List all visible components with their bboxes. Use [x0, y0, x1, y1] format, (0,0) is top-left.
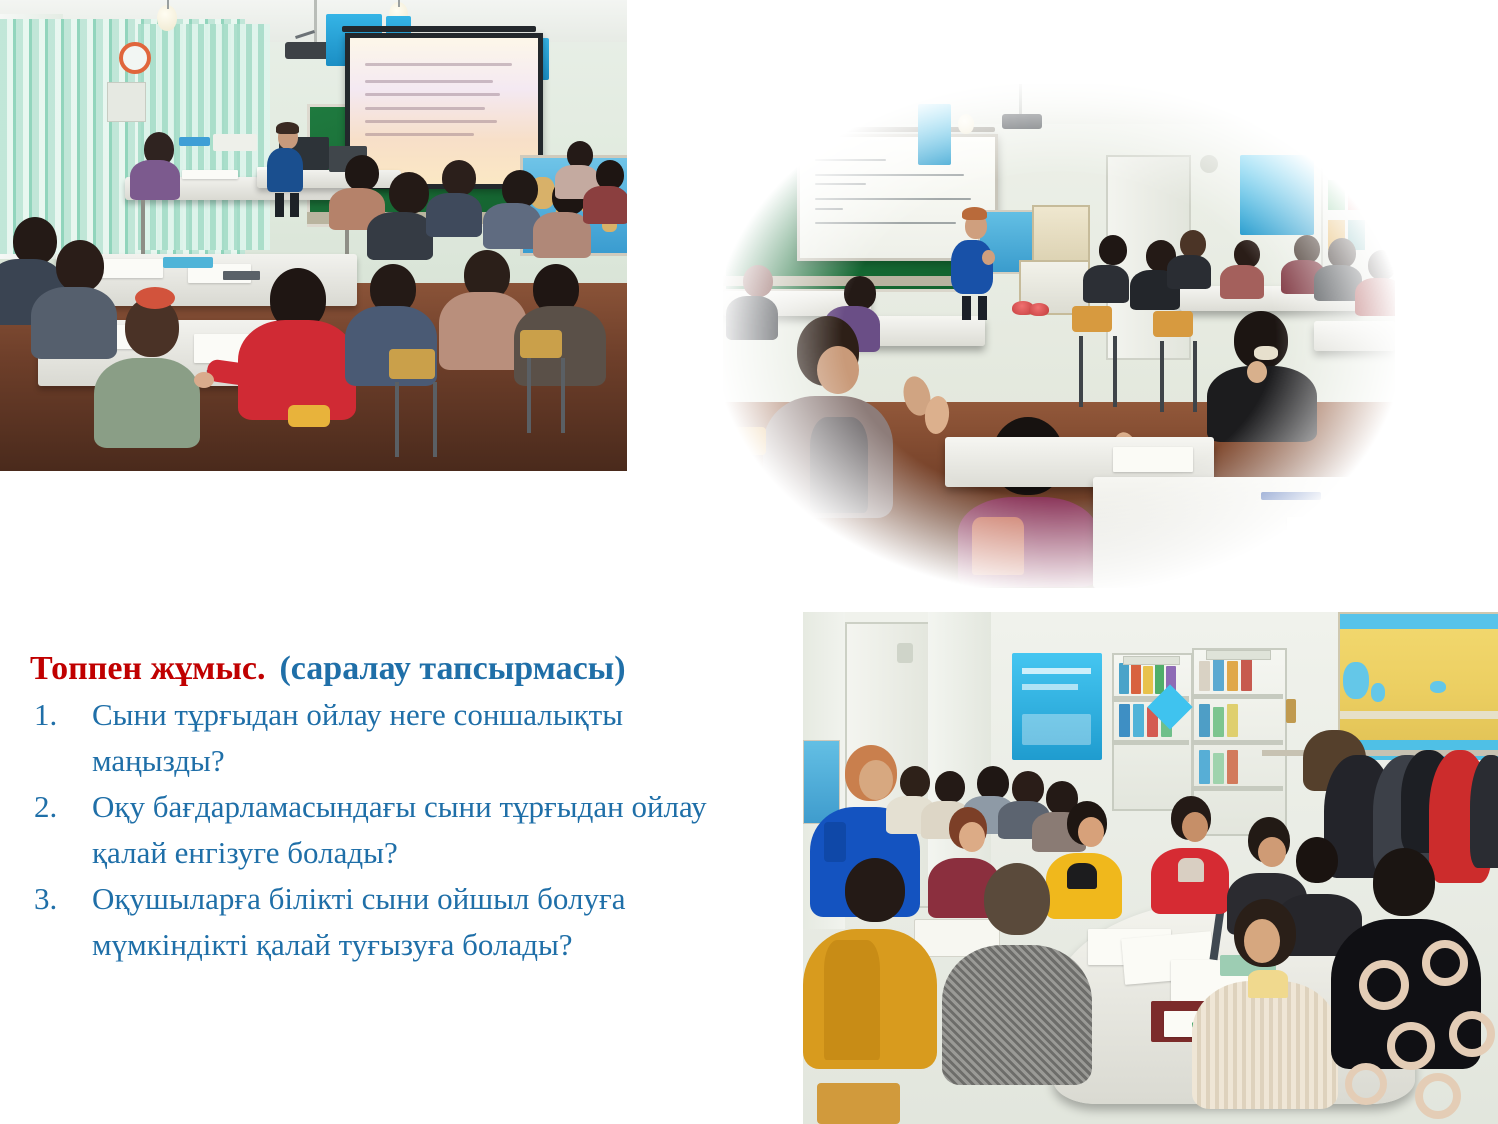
- photo-group-discussion: Топтық талқылау: мұғалімдер дөңгелек үст…: [803, 612, 1498, 1124]
- question-item-2: 2. Оқу бағдарламасындағы сыни тұрғыдан о…: [30, 784, 760, 876]
- question-item-3: 3. Оқушыларға білікті сыни ойшыл болуға …: [30, 876, 760, 968]
- question-text-2: Оқу бағдарламасындағы сыни тұрғыдан ойла…: [92, 789, 707, 870]
- slide-text-block: Топпен жұмыс.(саралау тапсырмасы) 1. Сын…: [30, 648, 760, 968]
- photo-reflection-applause: Рефлексия кезеңі: қатысушылардың қол шап…: [723, 84, 1395, 588]
- question-text-3: Оқушыларға білікті сыни ойшыл болуға мүм…: [92, 881, 625, 962]
- question-text-1: Сыни тұрғыдан ойлау неге соншалықты маңы…: [92, 697, 623, 778]
- slide-heading: Топпен жұмыс.(саралау тапсырмасы): [30, 648, 760, 690]
- photo-2-scene: [723, 84, 1395, 588]
- question-number-2: 2.: [34, 784, 74, 830]
- photo-3-scene: [803, 612, 1498, 1124]
- question-number-3: 3.: [34, 876, 74, 922]
- photo-1-scene: [0, 0, 627, 471]
- photo-classroom-presentation: Сабақ барысы: проектор экраны мен тақта …: [0, 0, 627, 471]
- slide-canvas: Сабақ барысы: проектор экраны мен тақта …: [0, 0, 1498, 1124]
- question-item-1: 1. Сыни тұрғыдан ойлау неге соншалықты м…: [30, 692, 760, 784]
- heading-main-text: Топпен жұмыс.: [30, 650, 265, 687]
- heading-sub-text: (саралау тапсырмасы): [279, 650, 625, 687]
- question-number-1: 1.: [34, 692, 74, 738]
- question-list: 1. Сыни тұрғыдан ойлау неге соншалықты м…: [30, 692, 760, 968]
